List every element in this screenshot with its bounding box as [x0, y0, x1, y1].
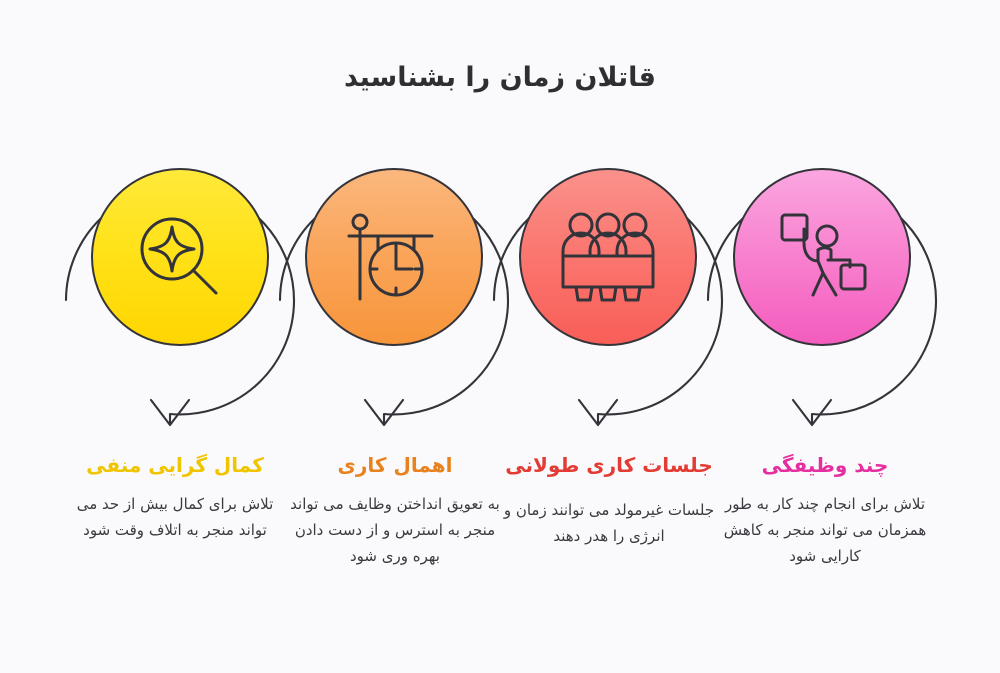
step-circle-negative-perfectionism[interactable] [91, 168, 269, 346]
arrowhead-1 [151, 400, 189, 425]
multitask-person-icon [768, 203, 876, 311]
step-description: تلاش برای انجام چند کار به طور همزمان می… [712, 491, 938, 570]
infographic-container: قاتلان زمان را بشناسید [0, 0, 1000, 673]
step-description: جلسات غیرمولد می توانند زمان و انرژی را … [496, 497, 722, 550]
step-heading: کمال گرایی منفی [62, 452, 288, 479]
magnifier-sparkle-icon [126, 203, 234, 311]
step-heading: جلسات کاری طولانی [496, 452, 722, 479]
step-heading: چند وظیفگی [712, 452, 938, 479]
hanging-clock-icon [340, 203, 448, 311]
step-text-negative-perfectionism: کمال گرایی منفی تلاش برای کمال بیش از حد… [62, 452, 288, 543]
arrowhead-2 [365, 400, 403, 425]
page-title: قاتلان زمان را بشناسید [0, 62, 1000, 93]
meeting-people-icon [554, 203, 662, 311]
step-circle-long-meetings[interactable] [519, 168, 697, 346]
arrowhead-3 [579, 400, 617, 425]
arrowhead-4 [793, 400, 831, 425]
step-circle-procrastination[interactable] [305, 168, 483, 346]
step-description: به تعویق انداختن وظایف می تواند منجر به … [282, 491, 508, 570]
step-heading: اهمال کاری [282, 452, 508, 479]
step-description: تلاش برای کمال بیش از حد می تواند منجر ب… [62, 491, 288, 544]
step-text-procrastination: اهمال کاری به تعویق انداختن وظایف می توا… [282, 452, 508, 570]
step-circle-multitasking[interactable] [733, 168, 911, 346]
step-text-long-meetings: جلسات کاری طولانی جلسات غیرمولد می توانن… [496, 452, 722, 549]
step-text-multitasking: چند وظیفگی تلاش برای انجام چند کار به طو… [712, 452, 938, 570]
